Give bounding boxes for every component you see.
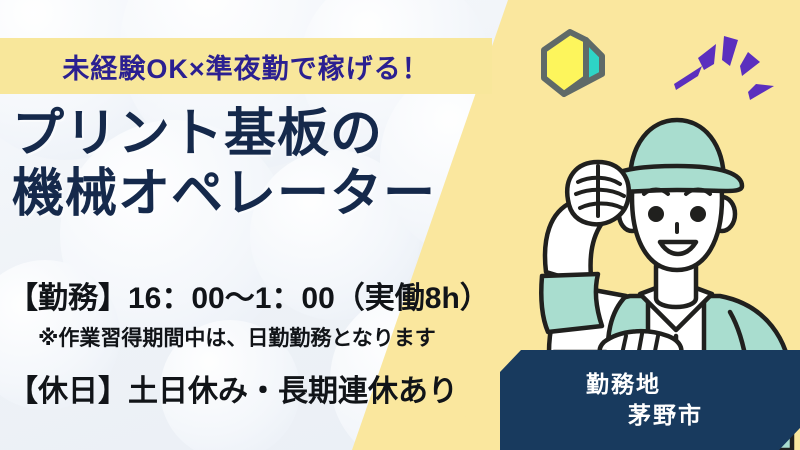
job-ad-banner: 未経験OK×準夜勤で稼げる！ プリント基板の 機械オペレーター 【勤務】16：0… (0, 0, 800, 450)
wakaba-beginner-mark-icon (536, 26, 608, 111)
holidays-text: 【休日】土日休み・長期連休あり (8, 366, 490, 410)
headline-line-2: 機械オペレーター (12, 164, 436, 224)
worker-character-illustration (480, 90, 800, 450)
catchcopy-text: 未経験OK×準夜勤で稼げる！ (62, 47, 429, 86)
job-details: 【勤務】16：00〜1：00（実働8h） ※作業習得期間中は、日勤勤務となります… (8, 282, 490, 410)
page-title: プリント基板の 機械オペレーター (12, 104, 436, 225)
sparkle-lines-icon (668, 28, 778, 123)
catchcopy-ribbon: 未経験OK×準夜勤で稼げる！ (0, 38, 492, 94)
training-note-text: ※作業習得期間中は、日勤勤務となります (38, 322, 490, 352)
headline-line-1: プリント基板の (12, 105, 383, 163)
work-hours-text: 【勤務】16：00〜1：00（実働8h） (8, 282, 490, 316)
